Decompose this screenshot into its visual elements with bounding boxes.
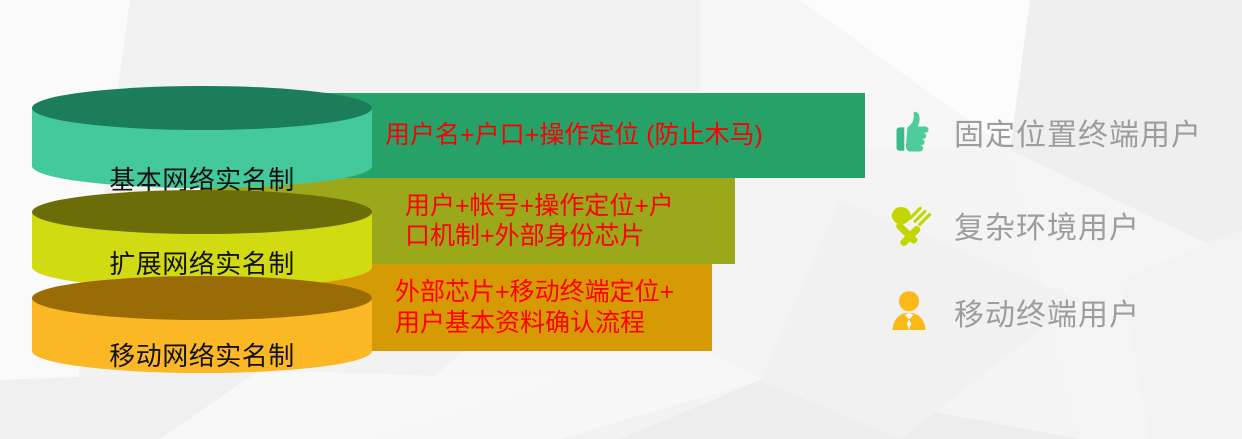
cylinder-tier-3-top	[32, 276, 372, 320]
legend-item-complex-environment[interactable]: 复杂环境用户	[880, 196, 1140, 254]
legend-item-fixed-location-label: 固定位置终端用户	[954, 110, 1202, 154]
legend-item-fixed-location[interactable]: 固定位置终端用户	[880, 103, 1202, 161]
thumbs-up-icon	[880, 103, 938, 161]
legend-item-complex-environment-label: 复杂环境用户	[954, 203, 1140, 247]
legend-item-mobile-terminal-label: 移动终端用户	[954, 290, 1140, 334]
legend-item-mobile-terminal[interactable]: 移动终端用户	[880, 283, 1140, 341]
tier-bar-2-text: 用户+帐号+操作定位+户 口机制+外部身份芯片	[405, 191, 674, 252]
cylinder-tier-1-top	[32, 86, 372, 130]
cylinder-tier-1[interactable]: 基本网络实名制	[32, 88, 372, 198]
tier-bar-3-text: 外部芯片+移动终端定位+ 用户基本资料确认流程	[395, 277, 674, 338]
diagram-canvas: 用户名+户口+操作定位 (防止木马) 用户+帐号+操作定位+户 口机制+外部身份…	[0, 0, 1242, 439]
spoon-fork-icon	[880, 196, 938, 254]
person-tie-icon	[880, 283, 938, 341]
cylinder-tier-2-top	[32, 190, 372, 234]
tier-bar-1-text: 用户名+户口+操作定位 (防止木马)	[385, 120, 763, 151]
cylinder-tier-3[interactable]: 移动网络实名制	[32, 278, 372, 388]
